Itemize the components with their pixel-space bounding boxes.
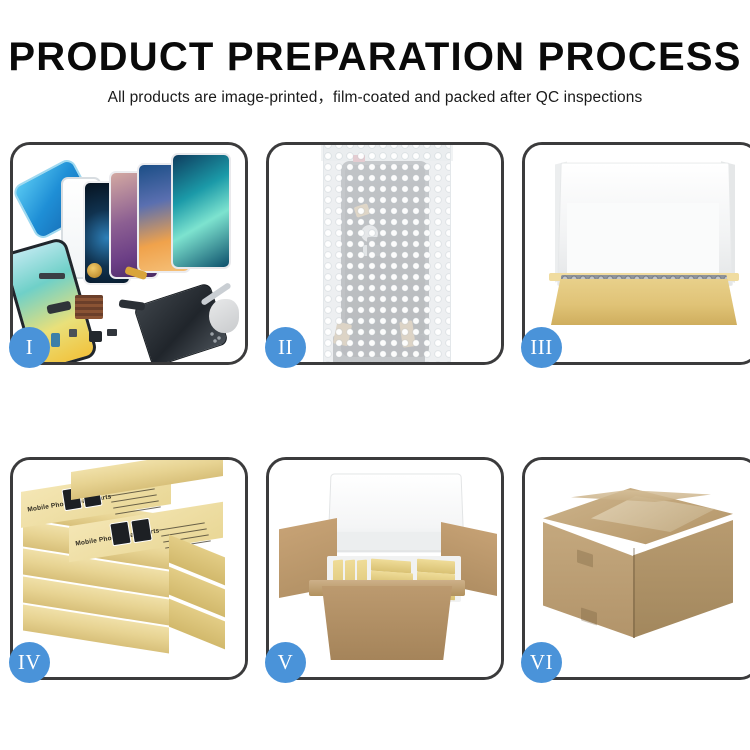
step-badge-4: IV [9, 642, 50, 683]
box-art-thumb-3 [109, 521, 131, 547]
process-steps-grid: I II [10, 142, 740, 680]
step-panel-5[interactable]: V [266, 457, 504, 680]
phone-display-teal [171, 153, 231, 269]
camera-module-part [51, 333, 60, 347]
step-6-image [525, 460, 750, 677]
step-3-image [525, 145, 750, 362]
taptic-engine-part [89, 331, 102, 342]
wireless-coil-part [87, 263, 102, 278]
step-2-image [269, 145, 501, 362]
step-badge-1: I [9, 327, 50, 368]
carton-vertical-seam [633, 548, 635, 638]
step-badge-3: III [521, 327, 562, 368]
step-4-image: Mobile Phone Spare Parts Mobile Phone Sp… [13, 460, 245, 677]
page-title: PRODUCT PREPARATION PROCESS [0, 0, 750, 78]
step-panel-4[interactable]: Mobile Phone Spare Parts Mobile Phone Sp… [10, 457, 248, 680]
box-art-thumb-4 [130, 518, 152, 544]
step-badge-2: II [265, 327, 306, 368]
packing-tape-strip [571, 490, 711, 502]
step-1-image [13, 145, 245, 362]
step-badge-6: VI [521, 642, 562, 683]
small-component-a [69, 329, 77, 337]
kraft-box-body [551, 279, 737, 325]
bubble-wrap-overlay [323, 145, 451, 362]
step-panel-1[interactable]: I [10, 142, 248, 365]
hand-holding-part [209, 299, 239, 333]
step-panel-6[interactable]: VI [522, 457, 750, 680]
flex-cable-right [119, 299, 146, 311]
small-component-b [107, 329, 117, 336]
foam-sheet [567, 203, 719, 281]
step-badge-5: V [265, 642, 306, 683]
page-subtitle: All products are image-printed，film-coat… [0, 78, 750, 107]
product-preparation-infographic: PRODUCT PREPARATION PROCESS All products… [0, 0, 750, 750]
carton-body [313, 586, 461, 660]
header: PRODUCT PREPARATION PROCESS All products… [0, 0, 750, 107]
step-panel-3[interactable]: III [522, 142, 750, 365]
logic-board-part [75, 295, 103, 319]
speaker-part [39, 273, 65, 279]
step-panel-2[interactable]: II [266, 142, 504, 365]
step-5-image [269, 460, 501, 677]
